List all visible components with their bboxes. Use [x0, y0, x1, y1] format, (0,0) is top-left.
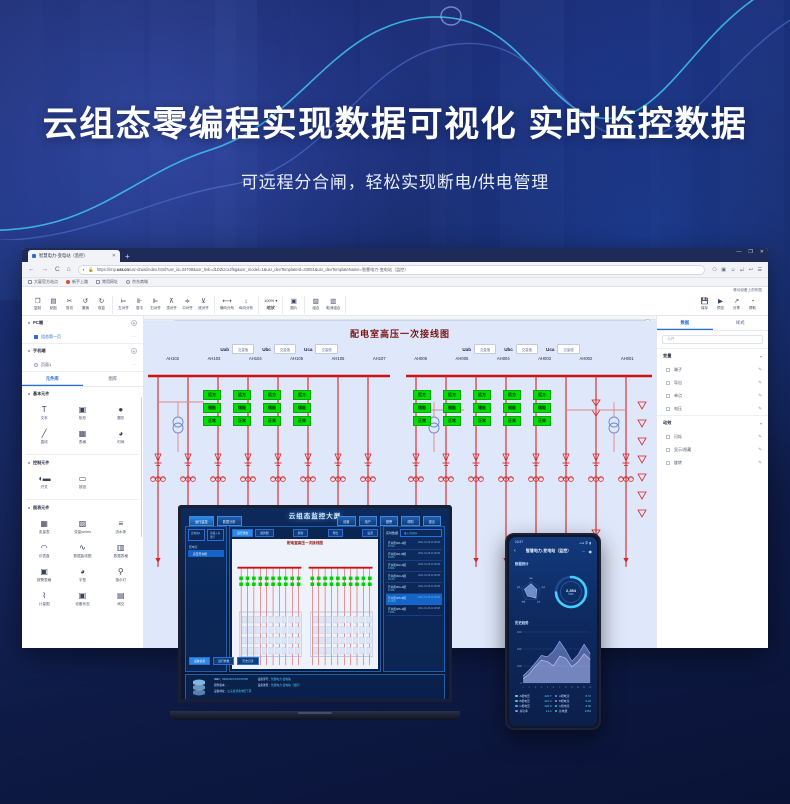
- library-item-label: 流水条: [115, 530, 126, 535]
- toolbar-align-middle-button[interactable]: ≑中对齐: [182, 298, 193, 312]
- status-time: 10:37: [515, 540, 523, 545]
- preview-icon: ▶: [718, 298, 723, 305]
- sidebar-group: PC端+组态第一页···: [22, 316, 143, 344]
- dashboard-center-button[interactable]: 导出: [328, 529, 344, 537]
- y-axis-tick: 2000: [517, 649, 523, 651]
- edit-icon[interactable]: ✎: [758, 367, 762, 373]
- sidebar-page-label: 页面1: [41, 362, 51, 368]
- phone-chart-row: 电压电流功率电量频率 2,354 kWh: [509, 568, 597, 616]
- info-value: -: [227, 684, 228, 687]
- property-label: 导出: [674, 380, 682, 386]
- left-sidebar: PC端+组态第一页···手机端+页面1··· 元件库图库 基本元件T文本▣矩形●…: [22, 316, 144, 648]
- checkbox-icon[interactable]: [666, 407, 670, 411]
- status-badge: 储能: [203, 403, 221, 413]
- toolbar-undo-button[interactable]: ↺撤销: [80, 298, 91, 312]
- toolbar-copy-button[interactable]: ❐复制: [32, 298, 43, 312]
- dashboard-nav-item[interactable]: 报警: [380, 516, 398, 526]
- cabinet-label: AH006: [400, 356, 441, 361]
- toolbar-align-center-button[interactable]: ⊪居中: [134, 298, 145, 312]
- cabinet-label: AH102: [152, 356, 193, 361]
- table-icon: ▦: [79, 429, 87, 438]
- add-page-icon[interactable]: +: [131, 320, 137, 326]
- status-badge: 远方: [293, 390, 311, 400]
- forward-icon[interactable]: →: [42, 266, 49, 273]
- bullet-icon: [28, 393, 30, 395]
- library-item[interactable]: ▤阀交: [102, 587, 140, 611]
- library-section-title: 图表元件: [33, 505, 49, 511]
- shield-icon: ◐: [83, 267, 86, 272]
- sidebar-page-item[interactable]: 组态第一页···: [22, 330, 143, 343]
- x-axis-tick: 6: [553, 687, 555, 689]
- row-name: 开关柜003-A相: [388, 574, 406, 578]
- toolbar-align-left-button[interactable]: ⊨左对齐: [118, 298, 129, 312]
- dashboard-center-tab[interactable]: 运行状态: [232, 529, 253, 537]
- laptop-base: [170, 711, 460, 720]
- library-item-label: 开关: [41, 485, 48, 490]
- dashboard-nav-item[interactable]: 运行监控: [189, 516, 214, 526]
- action-label: 分享: [733, 306, 740, 311]
- sidebar-group-header: PC端+: [22, 316, 143, 330]
- toolbar-label: 取消组合: [326, 306, 340, 311]
- station-select[interactable]: 变电站1: [188, 529, 205, 541]
- legend-item: B相电流9.18: [555, 699, 592, 703]
- gauge-chart: 2,354 kWh: [551, 572, 591, 612]
- status-badge: 远方: [533, 390, 551, 400]
- app-actions: 💾保存▶预览↗分享◔帮助: [694, 296, 763, 314]
- status-badge: 远方: [233, 390, 251, 400]
- legend-label: A相电压: [520, 694, 530, 698]
- library-item[interactable]: ▦变量表: [25, 515, 63, 539]
- properties-tab-style[interactable]: 样式: [713, 316, 769, 330]
- library-item-label: 表格: [79, 440, 86, 445]
- preview-button[interactable]: ▶预览: [715, 298, 726, 312]
- share-icon[interactable]: ↩: [749, 267, 753, 273]
- library-item[interactable]: ▣设备状态: [63, 587, 101, 611]
- row-time: 2021-01-28 11:08:08: [418, 541, 440, 548]
- property-label: 单点: [674, 393, 682, 399]
- avatar[interactable]: ◉: [589, 549, 593, 554]
- dashboard-nav-item[interactable]: 用户: [359, 516, 377, 526]
- sidebar-scrollbar[interactable]: [141, 397, 143, 537]
- favorites-icon[interactable]: ▣: [721, 267, 726, 273]
- phase-label: Ubc: [504, 347, 513, 352]
- library-item[interactable]: ▣报警表格: [25, 563, 63, 587]
- radar-axis-label: 功率: [537, 600, 541, 604]
- toolbar-redo-button[interactable]: ↻恢复: [96, 298, 107, 312]
- dashboard-footer-tab[interactable]: 设备信息: [189, 657, 210, 665]
- chevron-down-icon[interactable]: ▾: [760, 421, 762, 426]
- toolbar-align-bottom-button[interactable]: ⊻底对齐: [198, 298, 209, 312]
- status-badge: 正常: [263, 416, 281, 426]
- checkbox-icon[interactable]: [666, 435, 670, 439]
- copy-icon: ❐: [35, 298, 41, 305]
- library-item[interactable]: ╱直线: [25, 425, 63, 449]
- library-item-label: 设备状态: [75, 602, 89, 607]
- save-button[interactable]: 💾保存: [699, 298, 710, 312]
- profile-icon[interactable]: ☺: [731, 267, 736, 273]
- dashboard-center-button[interactable]: 设置: [362, 529, 378, 537]
- help-button[interactable]: ◔帮助: [747, 298, 758, 312]
- new-tab-button[interactable]: +: [125, 252, 130, 261]
- library-item[interactable]: ▨变量series: [63, 515, 101, 539]
- footer-info-right: 设备型号：智慧电力-变电站设备类型：智慧电力-变电站（监控）: [258, 677, 302, 701]
- row-name: 开关柜004-A相: [388, 585, 406, 589]
- chevron-down-icon[interactable]: ▾: [760, 354, 762, 359]
- bookmark-item[interactable]: 京东商城: [126, 279, 148, 285]
- phase-label: Uca: [546, 347, 554, 352]
- variable-table-icon: ▦: [40, 519, 48, 528]
- toolbar-label: 组合: [312, 306, 319, 311]
- phase-readout: Uab交量值: [462, 344, 496, 354]
- property-item[interactable]: 单点✎: [657, 389, 768, 402]
- edit-icon[interactable]: ✎: [758, 393, 762, 399]
- diagram-title: 配电室高压一次接线图: [144, 321, 656, 340]
- phase-value: 交量值: [315, 344, 337, 354]
- add-page-icon[interactable]: +: [131, 348, 137, 354]
- status-badge: 正常: [473, 416, 491, 426]
- toolbar-image-button[interactable]: ▣图片: [288, 298, 299, 312]
- legend-item: 总电量2354: [555, 709, 592, 713]
- library-item[interactable]: ⌇计量图: [25, 587, 63, 611]
- line-icon: ╱: [42, 429, 47, 438]
- status-indicators: ⊿⊿ 中 ▮: [579, 540, 591, 545]
- properties-section-header[interactable]: 动效▾: [657, 416, 768, 430]
- row-time: 2021-01-28 11:08:08: [418, 552, 440, 559]
- sidebar-tab-library[interactable]: 元件库: [22, 372, 83, 386]
- library-grid: T文本▣矩形●圆形╱直线▦表格◕时间: [22, 399, 143, 453]
- status-badge-group: 远方储能正常: [263, 390, 281, 426]
- legend-label: C相电流: [559, 704, 569, 708]
- legend-item: A相电压220.7: [515, 694, 552, 698]
- row-value: 11.05A: [388, 600, 406, 603]
- bullet-icon: [28, 350, 30, 352]
- phase-value: 交量值: [516, 344, 538, 354]
- bullet-icon: [28, 322, 30, 324]
- flame-icon: [66, 280, 70, 284]
- bookmark-item[interactable]: 常用网址: [96, 279, 118, 285]
- legend-label: B相电压: [520, 699, 530, 703]
- dashboard-nav-item[interactable]: 退出: [423, 516, 441, 526]
- divider: [26, 454, 139, 455]
- legend-swatch: [515, 695, 518, 698]
- status-badge: 储能: [503, 403, 521, 413]
- zoom-label: 缩放: [266, 305, 274, 311]
- mini-diagram-title: 配电室高压一次接线图: [232, 539, 378, 546]
- zoom-control[interactable]: 100% ▾缩放: [264, 298, 277, 311]
- favicon-icon: [32, 254, 36, 258]
- realtime-row[interactable]: 开关柜001-B相9.18A2021-01-28 11:08:08: [386, 550, 442, 561]
- legend-label: 总功率: [520, 709, 528, 713]
- cabinet-label: AH003: [524, 356, 565, 361]
- toolbar-label: 复制: [34, 306, 41, 311]
- edit-icon[interactable]: ✎: [758, 460, 762, 466]
- address-bar[interactable]: ◐ 🔒 https://imp.usr.cn/usr-draw/index.ht…: [78, 265, 706, 275]
- legend-item: A相电流8.72: [555, 694, 592, 698]
- toolbar-cut-button[interactable]: ✂剪切: [64, 298, 75, 312]
- dashboard-nav-left: 运行监控数据分析: [189, 516, 242, 526]
- back-icon[interactable]: ←: [28, 266, 35, 273]
- x-axis-tick: 12: [589, 687, 592, 689]
- property-item[interactable]: 电压✎: [657, 402, 768, 415]
- back-icon[interactable]: ‹: [514, 548, 516, 554]
- maximize-icon[interactable]: ❐: [748, 249, 752, 255]
- dashboard: 云组态监控大屏 运行监控数据分析 设置用户报警帮助退出 变电站1 请输入关键字 …: [181, 508, 449, 699]
- browser-tab-title: 智慧电力-变电站（监控）: [39, 253, 88, 259]
- bookmarks-bar: 大厦官方站点新手上路常用网址京东商城: [22, 278, 768, 287]
- phone-device: 10:37 ⊿⊿ 中 ▮ ‹ 智慧电力-变电站（监控） ··· ◉ 数据统计 电…: [505, 533, 601, 730]
- phase-readout: Uca交量值: [304, 344, 338, 354]
- property-item[interactable]: 导出✎: [657, 376, 768, 389]
- edit-icon[interactable]: ✎: [758, 434, 762, 440]
- checkbox-icon[interactable]: [666, 394, 670, 398]
- status-badge: 远方: [473, 390, 491, 400]
- property-item[interactable]: 显示/隐藏✎: [657, 443, 768, 456]
- sync-icon[interactable]: ⤾: [740, 267, 744, 273]
- reload-icon[interactable]: C: [55, 266, 60, 273]
- zoom-value: 100% ▾: [264, 298, 277, 303]
- toolbar-label: 撤销: [82, 306, 89, 311]
- info-label: 设备地址：: [214, 690, 227, 693]
- library-item[interactable]: ∿数据曲线图: [63, 539, 101, 563]
- radar-axis-label: 电量: [522, 600, 526, 604]
- close-window-icon[interactable]: ✕: [760, 249, 764, 255]
- collections-icon[interactable]: ⎔: [712, 267, 716, 273]
- gauge-icon: ◠: [41, 543, 48, 552]
- library-section-header: 基本元件: [22, 387, 143, 399]
- library-item[interactable]: ◖▬开关: [25, 470, 63, 494]
- checkbox-icon[interactable]: [666, 448, 670, 452]
- edit-icon[interactable]: ✎: [758, 380, 762, 386]
- toolbar-label: 底对齐: [198, 306, 209, 311]
- library-item-label: 计量图: [39, 602, 50, 607]
- page-more-icon[interactable]: ···: [132, 334, 138, 339]
- properties-tab-data[interactable]: 数据: [657, 316, 713, 330]
- realtime-row[interactable]: 开关柜002-A相8.65A2021-01-28 11:08:08: [386, 561, 442, 572]
- menu-icon[interactable]: ☰: [758, 267, 762, 273]
- phase-label: Uab: [220, 347, 229, 352]
- legend-value: 8.72: [586, 694, 591, 698]
- info-label: 设备类型：: [258, 684, 271, 687]
- laptop-screen: 云组态监控大屏 运行监控数据分析 设置用户报警帮助退出 变电站1 请输入关键字 …: [178, 505, 452, 702]
- dashboard-nav-item[interactable]: 帮助: [401, 516, 419, 526]
- phone-screen: 10:37 ⊿⊿ 中 ▮ ‹ 智慧电力-变电站（监控） ··· ◉ 数据统计 电…: [509, 537, 597, 726]
- browser-tab[interactable]: 智慧电力-变电站（监控） ✕: [28, 250, 120, 262]
- share-button[interactable]: ↗分享: [731, 298, 742, 312]
- minimize-icon[interactable]: —: [736, 249, 741, 255]
- rectangle-icon: ▣: [79, 405, 87, 414]
- dashboard-mini-diagram[interactable]: 配电室高压一次接线图: [232, 539, 378, 669]
- action-label: 帮助: [749, 306, 756, 311]
- phone-navbar: ‹ 智慧电力-变电站（监控） ··· ◉: [509, 546, 597, 557]
- x-axis-tick: 2: [529, 687, 531, 689]
- toolbar-align-right-button[interactable]: ⊫右对齐: [150, 298, 161, 312]
- align-right-icon: ⊫: [153, 298, 159, 305]
- sidebar-tab-gallery[interactable]: 图库: [83, 372, 144, 386]
- library-item-label: 圆形: [117, 416, 124, 421]
- realtime-row[interactable]: 开关柜005-B相11.05A2021-01-28 11:08:08: [386, 594, 442, 605]
- status-badge-group: 远方储能正常: [203, 390, 221, 426]
- pie-icon: ◕: [80, 567, 85, 576]
- status-badge: 正常: [413, 416, 431, 426]
- status-badge: 储能: [533, 403, 551, 413]
- library-item[interactable]: ≡流水条: [102, 515, 140, 539]
- page-icon: [34, 335, 38, 339]
- edit-icon[interactable]: ✎: [758, 406, 762, 412]
- distribute-h-icon: ⟷: [222, 298, 231, 305]
- row-value: 10.2A: [388, 578, 406, 581]
- dashboard-nav-item[interactable]: 数据分析: [217, 516, 242, 526]
- library-item-label: 仪表盘: [39, 554, 50, 559]
- toolbar-group-button[interactable]: ▨组合: [310, 298, 321, 312]
- library-section-header: 控制元件: [22, 456, 143, 468]
- library-item-label: 变量表: [39, 530, 50, 535]
- checkbox-icon[interactable]: [666, 381, 670, 385]
- library-item-label: 直线: [41, 440, 48, 445]
- library-item-label: 按钮: [79, 485, 86, 490]
- realtime-row[interactable]: 开关柜003-A相10.2A2021-01-28 11:08:08: [386, 572, 442, 583]
- row-time: 2021-01-28 11:08:08: [418, 596, 440, 603]
- x-axis-tick: 10: [577, 687, 580, 689]
- more-icon[interactable]: ···: [582, 549, 586, 554]
- info-label: 设备型号：: [258, 678, 271, 681]
- toolbar-distribute-v-button[interactable]: ↕纵向分布: [239, 298, 253, 312]
- page-title: 云组态零编程实现数据可视化 实时监控数据: [0, 96, 790, 147]
- bookmark-item[interactable]: 大厦官方站点: [28, 279, 58, 285]
- indicator-icon: ⚲: [118, 567, 124, 576]
- property-item[interactable]: 旋转✎: [657, 456, 768, 469]
- dashboard-footer-tab[interactable]: 历史记录: [237, 657, 258, 665]
- toolbar-group: 100% ▾缩放: [259, 296, 283, 314]
- cabinet-label: AH004: [483, 356, 524, 361]
- phase-label: Uab: [462, 347, 471, 352]
- legend-label: A相电流: [559, 694, 569, 698]
- row-value: 9.18A: [388, 556, 406, 559]
- bookmark-item[interactable]: 新手上路: [66, 279, 88, 285]
- info-value: 智慧电力-变电站（监控）: [271, 684, 301, 687]
- page-icon: [34, 363, 38, 367]
- info-label: 固件版本：: [214, 684, 227, 687]
- library-item-label: 变量series: [74, 530, 91, 535]
- dashboard-footer-tab[interactable]: 运行参数: [213, 657, 234, 665]
- library-item[interactable]: ◕时间: [102, 425, 140, 449]
- phase-value: 交量值: [274, 344, 296, 354]
- radar-axis-label: 电流: [542, 585, 546, 589]
- phase-readout: Ubc交量值: [504, 344, 538, 354]
- library-item[interactable]: ◠仪表盘: [25, 539, 63, 563]
- x-axis-tick: 5: [547, 687, 549, 689]
- tree-node[interactable]: 高压开关柜: [188, 550, 224, 557]
- library-item[interactable]: ●圆形: [102, 401, 140, 425]
- status-badge: 远方: [413, 390, 431, 400]
- info-value: 868120XXXXXX0748: [222, 678, 248, 681]
- legend-value: 9.18: [586, 699, 591, 703]
- edit-icon[interactable]: ✎: [758, 447, 762, 453]
- cabinet-label: AH103: [193, 356, 234, 361]
- dashboard-center-tab[interactable]: 趋势图: [255, 529, 273, 537]
- library-item[interactable]: ▥数据表格: [102, 539, 140, 563]
- library-item[interactable]: ▭按钮: [63, 470, 101, 494]
- legend-swatch: [555, 695, 558, 698]
- toolbar-align-top-button[interactable]: ⊼顶对齐: [166, 298, 177, 312]
- dashboard-right-panel: 实时数据 输入/关键字 开关柜001-A相8.72A2021-01-28 11:…: [383, 526, 445, 672]
- redo-icon: ↻: [99, 298, 104, 305]
- dashboard-center-button[interactable]: 刷新: [293, 529, 309, 537]
- legend-label: B相电流: [559, 699, 569, 703]
- toolbar-paste-button[interactable]: ▤粘贴: [48, 298, 59, 312]
- circle-icon: [126, 280, 130, 284]
- toolbar-ungroup-button[interactable]: ▥取消组合: [326, 298, 340, 312]
- row-value: 7.84A: [388, 611, 406, 614]
- property-item[interactable]: 端子✎: [657, 363, 768, 376]
- properties-section-header[interactable]: 变量▾: [657, 349, 768, 363]
- property-label: 闪烁: [674, 434, 682, 440]
- library-item[interactable]: T文本: [25, 401, 63, 425]
- properties-section: 动效▾闪烁✎显示/隐藏✎旋转✎: [657, 415, 768, 469]
- toolbar-distribute-h-button[interactable]: ⟷横向分布: [220, 298, 234, 312]
- checkbox-icon[interactable]: [666, 461, 670, 465]
- library-section-header: 图表元件: [22, 501, 143, 513]
- legend-value: 221.3: [545, 699, 552, 703]
- clock-icon: ◕: [118, 429, 123, 438]
- share-icon: ↗: [734, 298, 739, 305]
- status-badge-group: 远方储能正常: [503, 390, 521, 426]
- gauge-unit: kWh: [568, 593, 573, 596]
- realtime-row[interactable]: 开关柜001-A相8.72A2021-01-28 11:08:08: [386, 539, 442, 550]
- realtime-row[interactable]: 开关柜006-A相7.84A2021-01-28 11:08:08: [386, 605, 442, 616]
- keyword-input[interactable]: 请输入关键字: [207, 529, 224, 541]
- library-item-label: 报警表格: [37, 578, 51, 583]
- library-item[interactable]: ⚲指示灯: [102, 563, 140, 587]
- status-badge: 正常: [203, 416, 221, 426]
- element-library[interactable]: 基本元件T文本▣矩形●圆形╱直线▦表格◕时间控制元件◖▬开关▭按钮图表元件▦变量…: [22, 387, 143, 648]
- properties-search[interactable]: 元件: [662, 335, 763, 344]
- property-item[interactable]: 闪烁✎: [657, 430, 768, 443]
- page-more-icon[interactable]: ···: [132, 362, 138, 367]
- library-item[interactable]: ◕字型: [63, 563, 101, 587]
- area-chart: 3000200010000123456789101112: [514, 629, 592, 691]
- properties-search-placeholder: 元件: [667, 337, 675, 342]
- status-badge-group: 远方储能正常: [233, 390, 251, 426]
- row-time: 2021-01-28 11:08:08: [418, 574, 440, 581]
- app-topbar-hint: 移动设备上的布图: [733, 288, 762, 293]
- properties-section-title: 动效: [663, 420, 671, 426]
- home-icon[interactable]: ⌂: [67, 266, 71, 273]
- realtime-row[interactable]: 开关柜004-A相9.43A2021-01-28 11:08:08: [386, 583, 442, 594]
- legend-value: 220.7: [545, 694, 552, 698]
- cabinet-labels-left: AH102AH103AH104AH105AH106AH107AH006AH005…: [144, 354, 656, 361]
- library-item[interactable]: ▦表格: [63, 425, 101, 449]
- checkbox-icon[interactable]: [666, 368, 670, 372]
- tree-root[interactable]: 配电室: [188, 543, 224, 550]
- dashboard-title: 云组态监控大屏: [289, 510, 342, 520]
- realtime-search[interactable]: 输入/关键字: [400, 529, 442, 537]
- divider: [26, 499, 139, 500]
- close-tab-icon[interactable]: ✕: [112, 254, 116, 259]
- legend-swatch: [515, 705, 518, 708]
- bullet-icon: [28, 507, 30, 509]
- toolbar-label: 横向分布: [220, 306, 234, 311]
- sidebar-page-item[interactable]: 页面1···: [22, 358, 143, 371]
- line-chart-icon: ∿: [79, 543, 86, 552]
- align-top-icon: ⊼: [169, 298, 174, 305]
- dashboard-nav-item[interactable]: 设置: [337, 516, 355, 526]
- toolbar-group: ▣图片: [283, 296, 305, 314]
- legend-swatch: [555, 705, 558, 708]
- radar-axis-label: 频率: [517, 585, 521, 589]
- status-badge: 正常: [443, 416, 461, 426]
- library-item[interactable]: ▣矩形: [63, 401, 101, 425]
- cabinet-label: AH005: [441, 356, 482, 361]
